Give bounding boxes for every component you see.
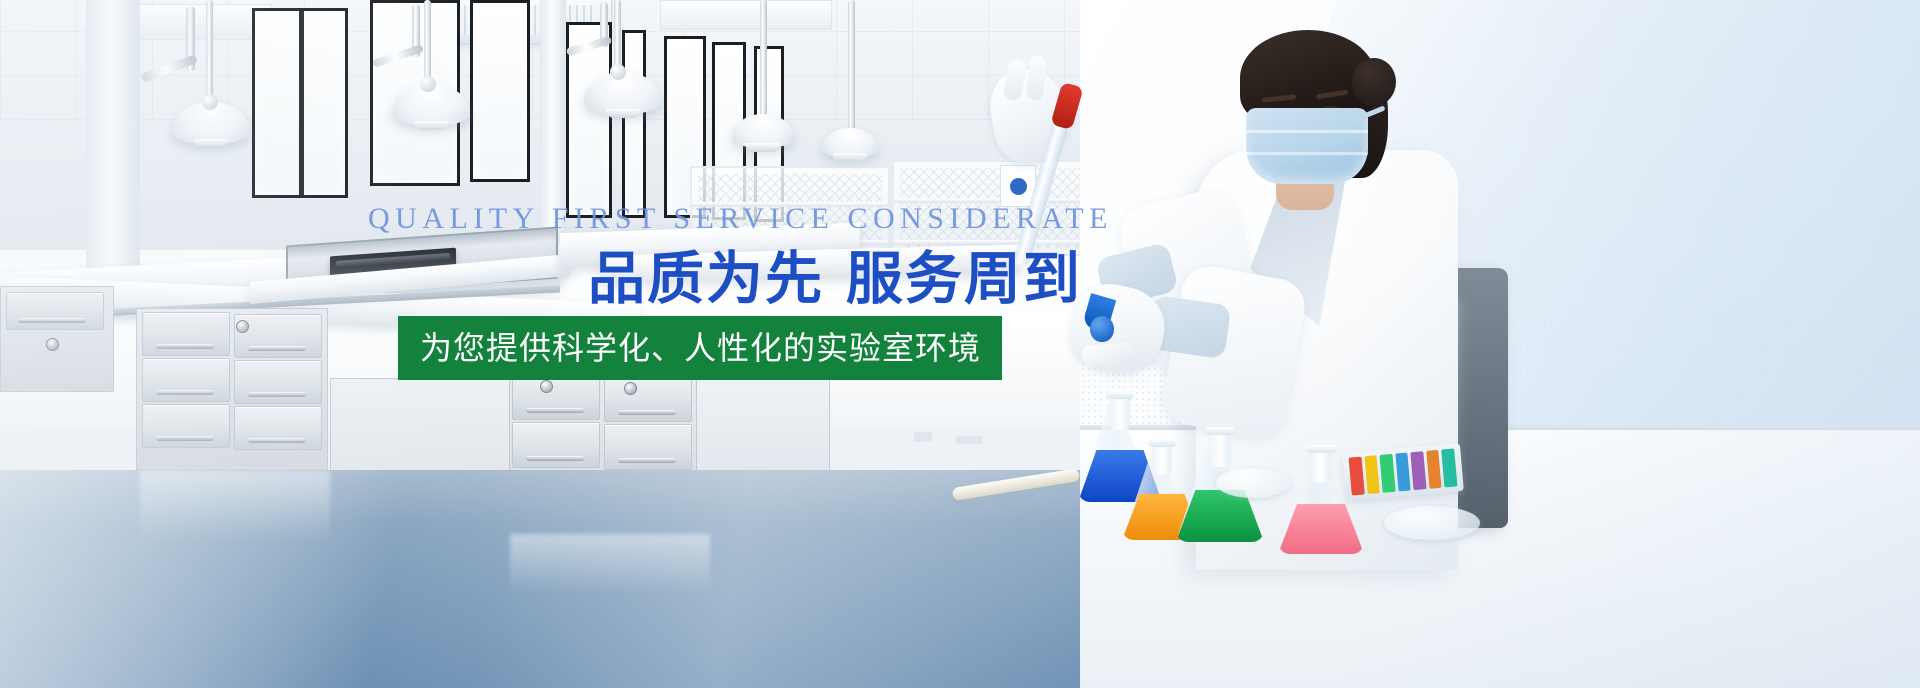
hero-banner: QUALITY FIRST SERVICE CONSIDERATE 品质为先 服… bbox=[0, 0, 1920, 688]
green-subtitle-bar: 为您提供科学化、人性化的实验室环境 bbox=[398, 316, 1002, 380]
green-bar-text: 为您提供科学化、人性化的实验室环境 bbox=[398, 330, 981, 366]
chinese-headline: 品质为先 服务周到 bbox=[588, 248, 1082, 310]
english-tagline: QUALITY FIRST SERVICE CONSIDERATE bbox=[368, 203, 1113, 235]
banner-text-overlay: QUALITY FIRST SERVICE CONSIDERATE 品质为先 服… bbox=[0, 0, 1920, 688]
